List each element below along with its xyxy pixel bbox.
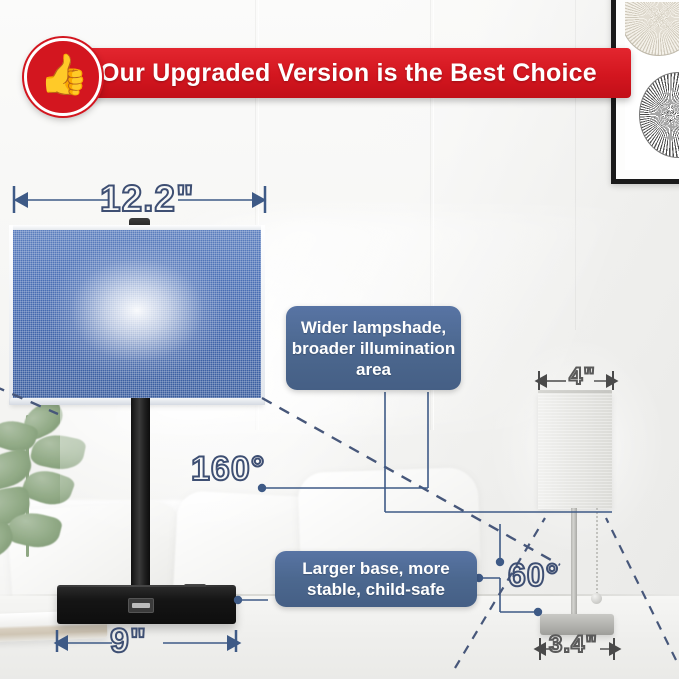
measure-old-base-width: 3.4" [549, 631, 598, 659]
measure-old-shade-width: 4" [569, 363, 596, 391]
thumbs-up-icon: 👍 [39, 55, 89, 95]
product-infographic: 12.2" 160° 9" 4" 60° 3.4" Wider lampshad… [0, 0, 679, 679]
base-callout: Larger base, more stable, child-safe [275, 551, 477, 607]
upgraded-lamp-shade [12, 228, 262, 400]
old-lamp-pull-chain-end [591, 593, 602, 604]
measure-shade-width: 12.2" [100, 178, 195, 220]
measure-base-width: 9" [110, 622, 147, 661]
potted-plant [0, 405, 104, 565]
measure-beam-angle-60: 60° [508, 557, 559, 594]
lamp-shade-right-trim [261, 225, 265, 405]
lamp-shade-top-trim [10, 225, 264, 230]
lamp-shade-left-trim [9, 225, 13, 405]
old-lamp-shade [538, 393, 612, 509]
lamp-shade-fabric [12, 228, 262, 400]
old-lamp-pole [571, 508, 577, 618]
headline-text: Our Upgraded Version is the Best Choice [100, 59, 597, 88]
upgraded-lamp-pole [131, 398, 150, 594]
measure-beam-angle-160: 160° [191, 450, 265, 489]
art-shape-bottom [639, 72, 679, 158]
thumbs-up-badge: 👍 [24, 38, 102, 116]
art-shape-top [625, 2, 679, 56]
usb-port [128, 598, 154, 613]
lampshade-callout: Wider lampshade, broader illumination ar… [286, 306, 461, 390]
art-mat [625, 2, 679, 170]
headline-banner: Our Upgraded Version is the Best Choice [45, 48, 631, 98]
old-lamp-pull-chain [596, 508, 598, 596]
